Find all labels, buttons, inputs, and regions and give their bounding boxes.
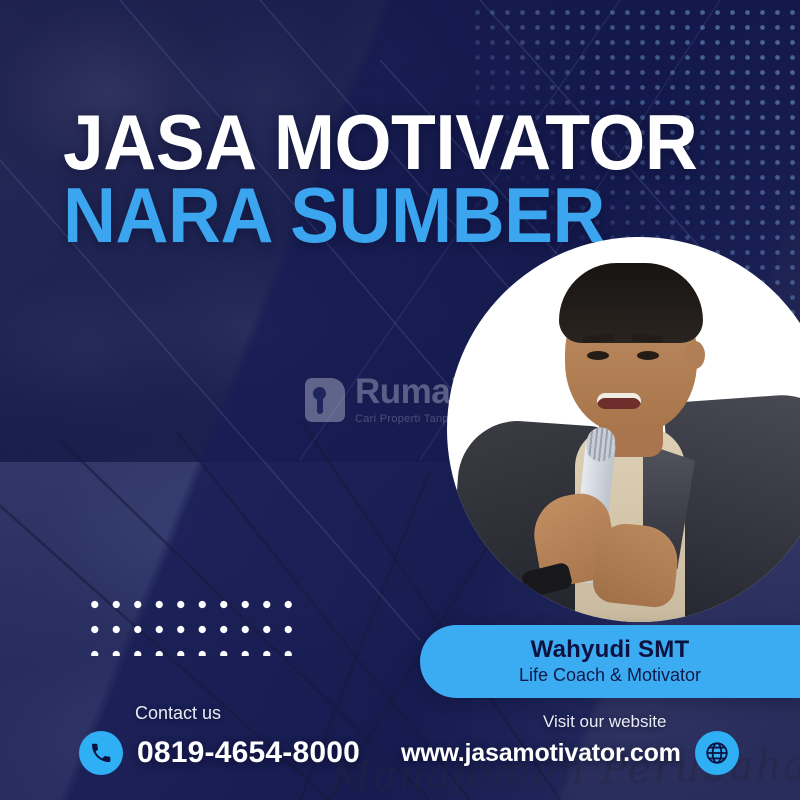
website-label: Visit our website xyxy=(543,712,666,732)
speaker-figure xyxy=(447,237,800,622)
speaker-portrait xyxy=(447,237,800,622)
globe-icon[interactable] xyxy=(695,731,739,775)
rumaindo-logo-icon xyxy=(305,378,345,422)
eye-right xyxy=(637,351,659,360)
speaker-role: Life Coach & Motivator xyxy=(519,666,701,686)
speaker-name: Wahyudi SMT xyxy=(531,637,690,663)
mouth xyxy=(597,393,641,409)
eye-left xyxy=(587,351,609,360)
phone-icon[interactable] xyxy=(79,731,123,775)
website-contact[interactable]: www.jasamotivator.com xyxy=(401,731,739,775)
portrait-circle-frame xyxy=(447,237,800,622)
decorative-dot-grid xyxy=(84,592,296,656)
headline: JASA MOTIVATOR NARA SUMBER xyxy=(63,108,738,249)
hair xyxy=(559,263,703,343)
poster-canvas: Manajemen Perubahan Rumaindo Cari Proper… xyxy=(0,0,800,800)
ear xyxy=(685,341,705,369)
contact-label: Contact us xyxy=(135,703,221,724)
website-url: www.jasamotivator.com xyxy=(401,739,681,768)
headline-line-1: JASA MOTIVATOR xyxy=(63,108,697,177)
phone-contact[interactable]: 0819-4654-8000 xyxy=(79,731,360,775)
speaker-name-badge: Wahyudi SMT Life Coach & Motivator xyxy=(420,625,800,698)
phone-number: 0819-4654-8000 xyxy=(137,736,360,770)
